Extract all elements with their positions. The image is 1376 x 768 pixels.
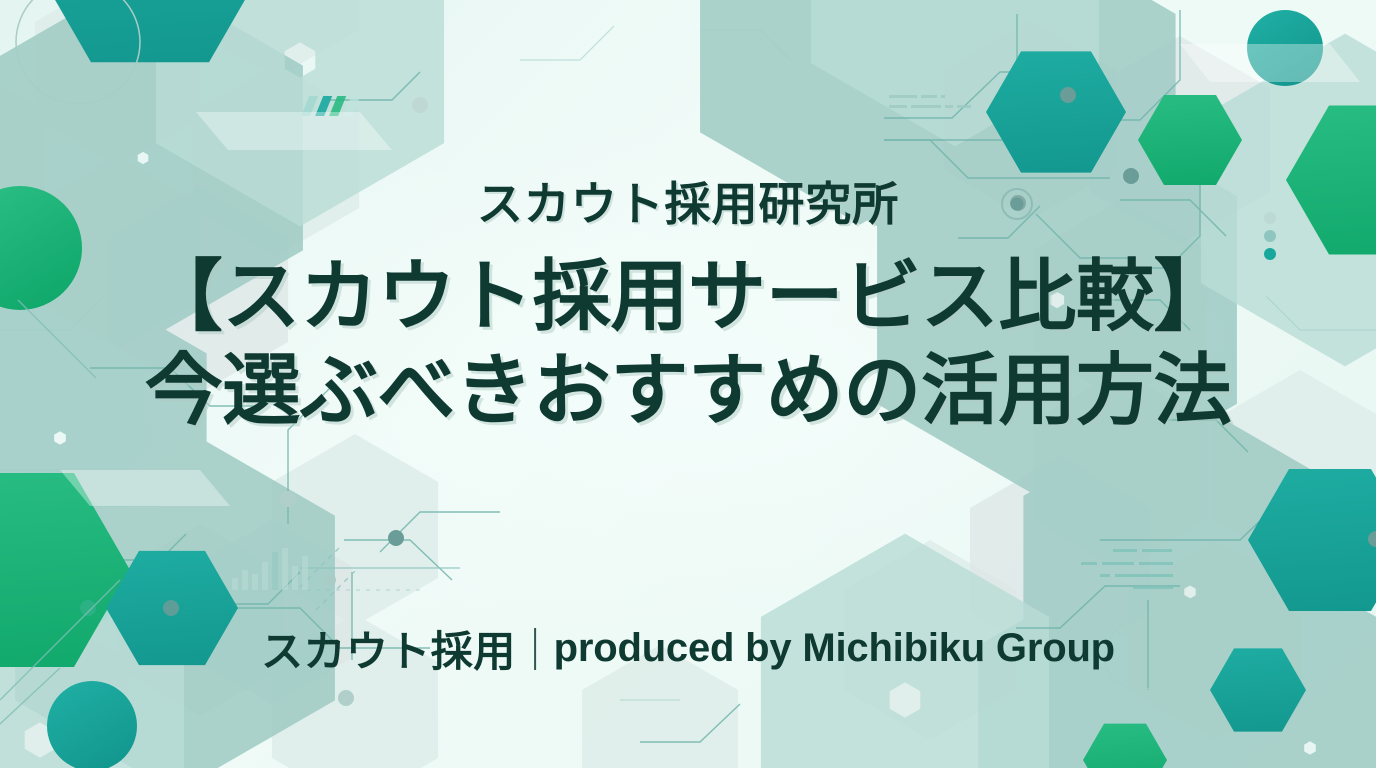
footer-brand: スカウト採用 produced by Michibiku Group (261, 618, 1115, 679)
banner-canvas: スカウト採用研究所 【スカウト採用サービス比較】 今選ぶべきおすすめの活用方法 … (0, 0, 1376, 768)
headline-line-1: 【スカウト採用サービス比較】 (145, 252, 1232, 340)
banner-content: スカウト採用研究所 【スカウト採用サービス比較】 今選ぶべきおすすめの活用方法 … (0, 0, 1376, 768)
eyebrow-label: スカウト採用研究所 (477, 168, 899, 234)
brand-name-jp: スカウト採用 (261, 618, 516, 679)
page-title: 【スカウト採用サービス比較】 今選ぶべきおすすめの活用方法 (145, 252, 1232, 434)
headline-line-2: 今選ぶべきおすすめの活用方法 (145, 346, 1232, 434)
brand-divider (534, 628, 536, 670)
brand-producer-label: produced by Michibiku Group (554, 626, 1115, 671)
